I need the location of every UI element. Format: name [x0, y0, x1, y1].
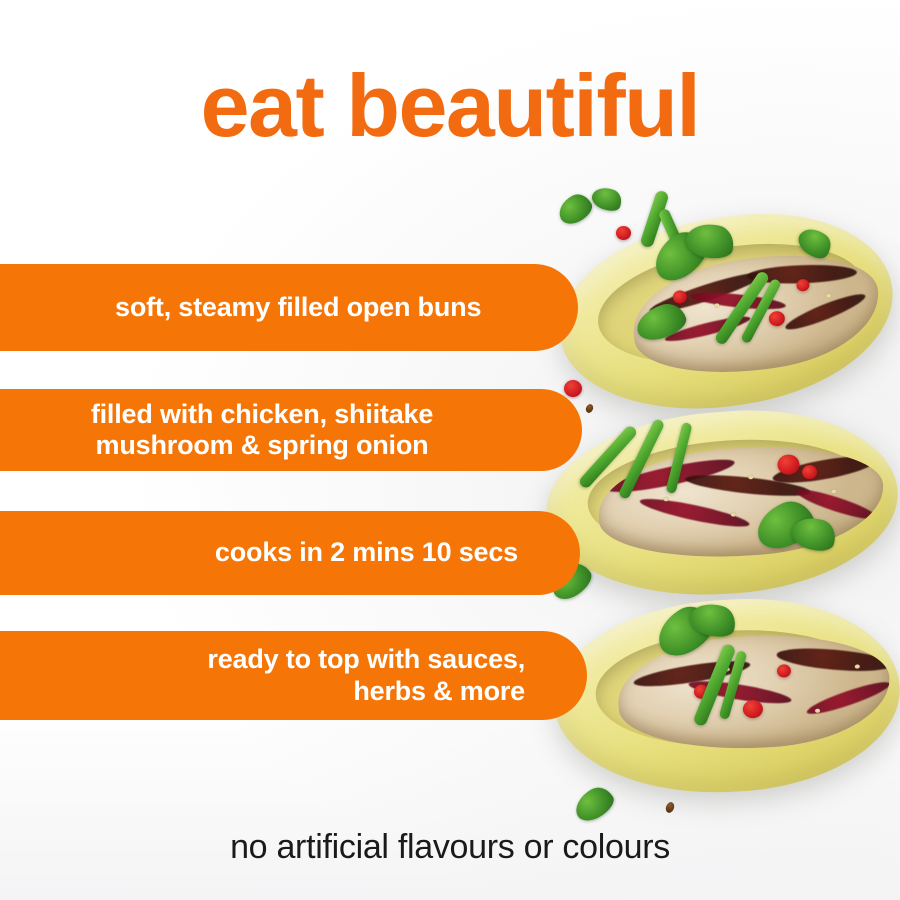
feature-banner-2-text: filled with chicken, shiitake mushroom &… [0, 399, 582, 462]
feature-banner-4-text: ready to top with sauces, herbs & more [0, 644, 587, 707]
feature-line: cooks in 2 mins 10 secs [0, 537, 518, 568]
feature-banner-3: cooks in 2 mins 10 secs [0, 511, 580, 595]
footer-claim: no artificial flavours or colours [0, 828, 900, 867]
feature-line: mushroom & spring onion [0, 430, 524, 461]
feature-line: filled with chicken, shiitake [0, 399, 524, 430]
feature-line: soft, steamy filled open buns [115, 292, 538, 323]
chilli-slice-icon [616, 226, 631, 240]
feature-line: ready to top with sauces, [0, 644, 525, 675]
feature-banner-3-text: cooks in 2 mins 10 secs [0, 537, 580, 568]
feature-banner-2: filled with chicken, shiitake mushroom &… [0, 389, 582, 471]
feature-banner-1: soft, steamy filled open buns [0, 264, 578, 351]
coriander-leaf-icon [554, 190, 596, 229]
feature-banner-4: ready to top with sauces, herbs & more [0, 631, 587, 720]
coriander-leaf-icon [589, 183, 625, 215]
ad-canvas: eat beautiful soft, steamy filled open b… [0, 0, 900, 900]
feature-banner-1-text: soft, steamy filled open buns [0, 292, 578, 323]
feature-line: herbs & more [0, 676, 525, 707]
page-title: eat beautiful [0, 62, 900, 150]
food-photograph [540, 180, 900, 830]
